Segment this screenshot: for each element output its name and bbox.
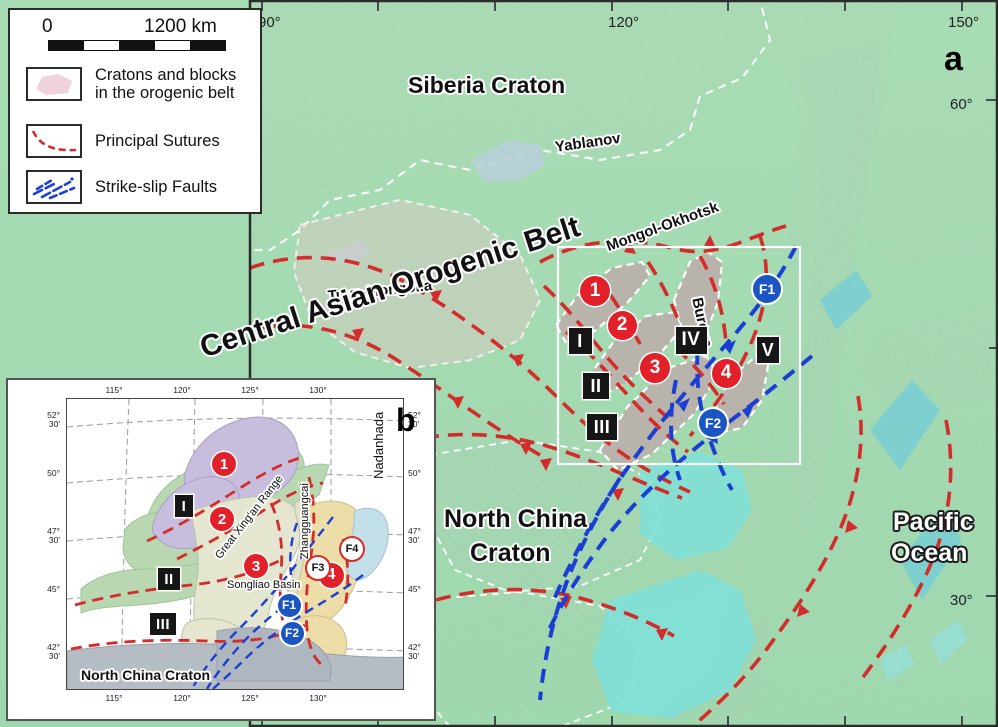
inset-longitude-label-top: 115° <box>100 386 128 395</box>
legend-item-sutures: Principal Sutures <box>26 124 220 158</box>
legend-label-cratons-line1: Cratons and blocks <box>95 66 236 84</box>
fault-marker-F3: F3 <box>305 555 331 581</box>
block-marker-3: 3 <box>640 353 670 383</box>
fault-marker-F2: F2 <box>281 622 304 645</box>
longitude-label: 150° <box>948 14 979 31</box>
suture-marker-V: V <box>757 337 779 363</box>
inset-latitude-label-left: 45° <box>16 585 60 594</box>
fault-marker-F4: F4 <box>339 536 365 562</box>
inset-longitude-label-bottom: 120° <box>168 694 196 703</box>
longitude-label: 120° <box>608 14 639 31</box>
inset-latitude-label-left: 52°30' <box>16 411 60 429</box>
inset-map-panel-b: Great Xing'an RangeSongliao BasinZhanggu… <box>6 378 436 721</box>
latitude-label: 60° <box>950 96 973 113</box>
scale-zero-label: 0 <box>42 16 53 38</box>
inset-longitude-label-top: 120° <box>168 386 196 395</box>
strike-slip-fault-swatch <box>26 170 82 204</box>
scale-bar-graphic <box>48 40 226 51</box>
block-marker-3: 3 <box>244 554 268 578</box>
suture-marker-IV: IV <box>676 327 707 354</box>
fault-marker-F1: F1 <box>278 594 301 617</box>
inset-longitude-label-top: 125° <box>236 386 264 395</box>
fault-marker-F1: F1 <box>753 275 781 303</box>
block-marker-1: 1 <box>580 276 610 306</box>
scale-bar: 0 1200 km <box>32 16 242 51</box>
block-marker-4: 4 <box>712 359 741 388</box>
inset-latitude-label-right: 50° <box>408 469 438 478</box>
suture-marker-II: II <box>158 568 180 590</box>
panel-b-letter: b <box>396 402 416 439</box>
inset-longitude-label-bottom: 130° <box>304 694 332 703</box>
block-marker-2: 2 <box>210 507 234 531</box>
legend-label-cratons: Cratons and blocks in the orogenic belt <box>95 66 236 103</box>
inset-longitude-label-bottom: 125° <box>236 694 264 703</box>
inset-latitude-label-left: 42°30' <box>16 643 60 661</box>
inset-latitude-label-right: 45° <box>408 585 438 594</box>
legend-label-sutures: Principal Sutures <box>95 132 220 150</box>
inset-longitude-label-bottom: 115° <box>100 694 128 703</box>
legend-item-cratons: Cratons and blocks in the orogenic belt <box>26 66 236 103</box>
legend-label-cratons-line2: in the orogenic belt <box>95 84 236 102</box>
craton-block-swatch <box>26 67 82 101</box>
legend-item-faults: Strike-slip Faults <box>26 170 217 204</box>
figure-root: 90°120°150°60°30° Siberia CratonYablanov… <box>0 0 998 727</box>
principal-suture-swatch <box>26 124 82 158</box>
suture-marker-II: II <box>583 373 609 399</box>
inset-longitude-label-top: 130° <box>304 386 332 395</box>
suture-marker-III: III <box>150 613 176 635</box>
inset-map-frame: Great Xing'an RangeSongliao BasinZhanggu… <box>66 398 404 690</box>
latitude-label: 30° <box>950 592 973 609</box>
inset-latitude-label-right: 47°30' <box>408 527 438 545</box>
legend-label-faults: Strike-slip Faults <box>95 178 217 196</box>
inset-latitude-label-left: 47°30' <box>16 527 60 545</box>
suture-marker-I: I <box>175 495 193 517</box>
scale-max-label: 1200 km <box>144 16 217 38</box>
inset-latitude-label-right: 42°30' <box>408 643 438 661</box>
block-marker-2: 2 <box>608 311 637 340</box>
inset-latitude-label-left: 50° <box>16 469 60 478</box>
fault-marker-F2: F2 <box>699 409 727 437</box>
suture-marker-I: I <box>569 328 592 354</box>
suture-marker-III: III <box>587 414 617 440</box>
panel-a-letter: a <box>944 40 963 79</box>
block-marker-1: 1 <box>212 452 236 476</box>
map-legend: 0 1200 km Cratons and blocks in the orog… <box>8 8 262 214</box>
